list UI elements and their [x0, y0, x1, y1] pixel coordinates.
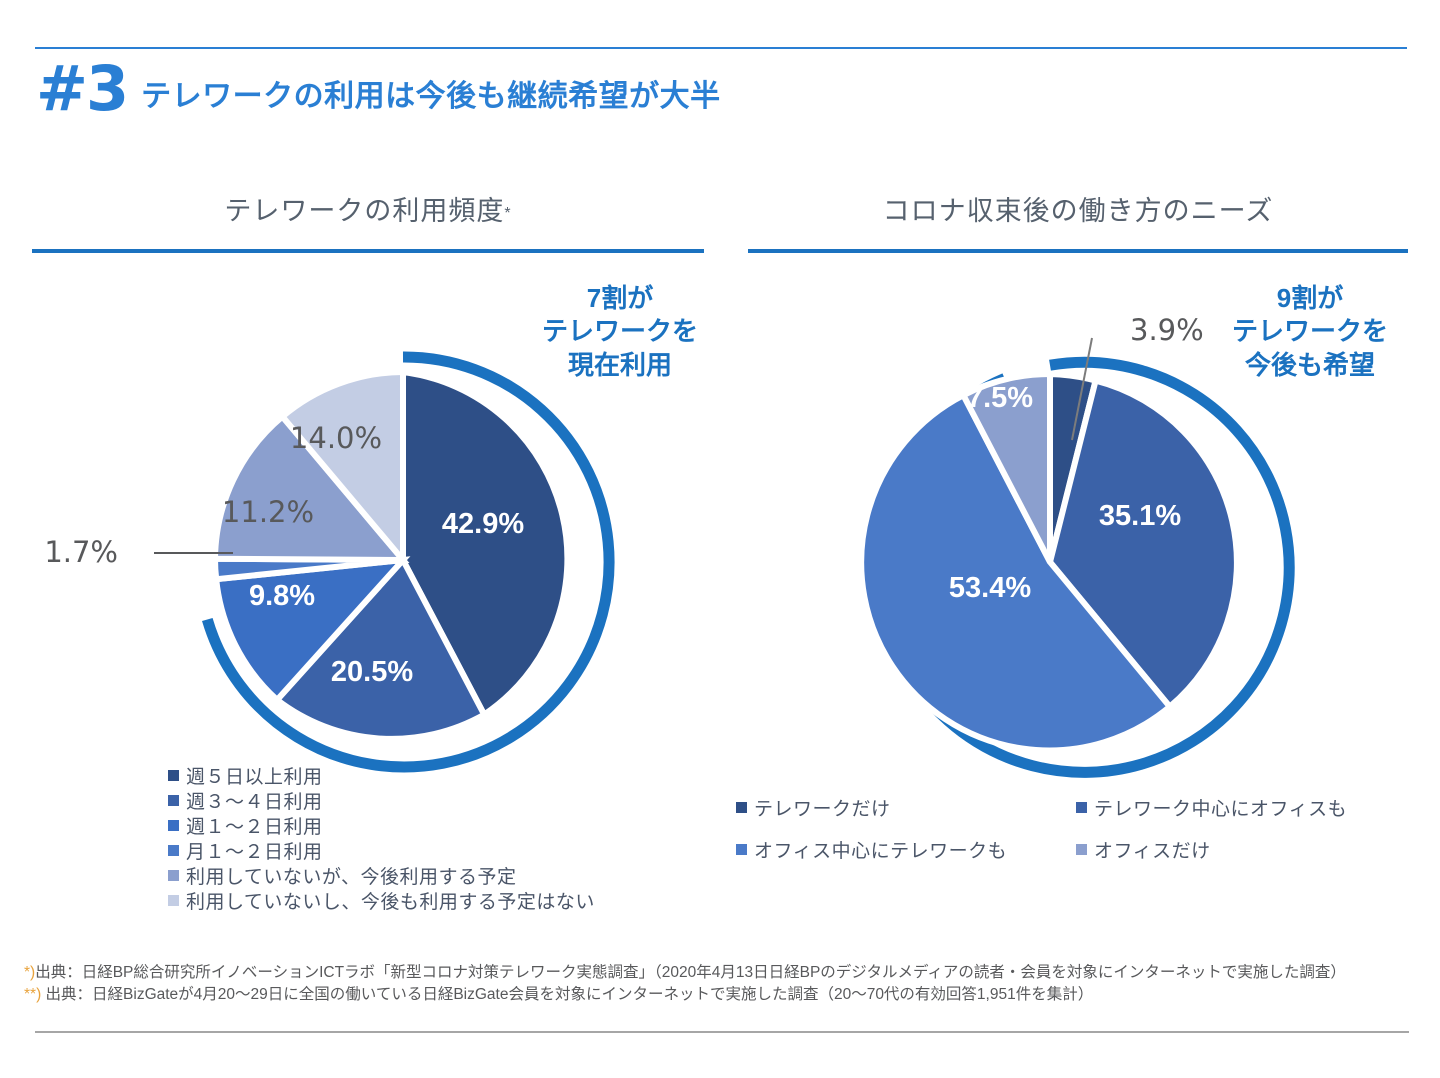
legend-label: テレワークだけ: [754, 794, 891, 821]
legend-item[interactable]: 週１〜２日利用: [168, 813, 688, 838]
right-chart-panel: コロナ収束後の働き方のニーズ: [748, 195, 1408, 253]
right-pie-slices: [861, 374, 1237, 750]
left-pie-svg: 42.9% 20.5% 9.8% 1.7% 11.2% 14.0%: [58, 300, 698, 760]
left-pie-label-6: 14.0%: [290, 421, 382, 455]
left-chart-title-text: テレワークの利用頻度: [224, 196, 504, 226]
right-pie-label-2: 35.1%: [1099, 500, 1181, 532]
left-chart-panel: テレワークの利用頻度*: [32, 195, 704, 253]
right-pie-label-4: 7.5%: [967, 382, 1033, 414]
legend-label: 週３〜４日利用: [186, 787, 323, 814]
right-chart-legend: テレワークだけ テレワーク中心にオフィスも オフィス中心にテレワークも オフィス…: [736, 786, 1416, 870]
legend-item[interactable]: 月１〜２日利用: [168, 838, 688, 863]
right-pie-svg: 3.9% 35.1% 53.4% 7.5%: [800, 300, 1400, 760]
left-pie-label-4: 1.7%: [44, 535, 118, 569]
legend-swatch: [1076, 802, 1087, 813]
legend-swatch: [736, 844, 747, 855]
legend-swatch: [168, 770, 179, 781]
bottom-divider: [35, 1031, 1409, 1033]
legend-label: テレワーク中心にオフィスも: [1094, 794, 1347, 821]
legend-label: 週１〜２日利用: [186, 812, 323, 839]
legend-swatch: [168, 820, 179, 831]
left-pie-label-2: 20.5%: [331, 656, 413, 688]
right-chart-title: コロナ収束後の働き方のニーズ: [748, 195, 1408, 239]
legend-swatch: [168, 845, 179, 856]
legend-label: オフィスだけ: [1094, 836, 1211, 863]
right-pie-chart: 3.9% 35.1% 53.4% 7.5%: [800, 300, 1400, 760]
footnote-row-1: *)出典：日経BP総合研究所イノベーションICTラボ「新型コロナ対策テレワーク実…: [24, 962, 1424, 984]
footnotes: *)出典：日経BP総合研究所イノベーションICTラボ「新型コロナ対策テレワーク実…: [24, 962, 1424, 1007]
left-pie-label-3: 9.8%: [249, 580, 315, 612]
left-chart-title-footnote-marker: *: [504, 205, 511, 222]
page-header: #3 テレワークの利用は今後も継続希望が大半: [36, 60, 721, 119]
footnote-row-2: **) 出典：日経BizGateが4月20〜29日に全国の働いている日経BizG…: [24, 984, 1424, 1006]
left-pie-label-1: 42.9%: [442, 508, 524, 540]
legend-item[interactable]: テレワークだけ: [736, 786, 1076, 828]
right-pie-label-3: 53.4%: [949, 572, 1031, 604]
right-panel-underline: [748, 249, 1408, 253]
legend-item[interactable]: 利用していないし、今後も利用する予定はない: [168, 888, 688, 913]
legend-swatch: [168, 870, 179, 881]
legend-item[interactable]: 利用していないが、今後利用する予定: [168, 863, 688, 888]
legend-item[interactable]: オフィスだけ: [1076, 828, 1416, 870]
left-panel-underline: [32, 249, 704, 253]
left-pie-label-5: 11.2%: [222, 495, 314, 529]
legend-label: 利用していないが、今後利用する予定: [186, 862, 517, 889]
top-divider: [35, 47, 1407, 49]
legend-item[interactable]: 週３〜４日利用: [168, 788, 688, 813]
left-pie-chart: 42.9% 20.5% 9.8% 1.7% 11.2% 14.0%: [58, 300, 698, 760]
left-chart-title: テレワークの利用頻度*: [32, 195, 704, 239]
legend-swatch: [736, 802, 747, 813]
legend-swatch: [168, 795, 179, 806]
page-title: テレワークの利用は今後も継続希望が大半: [141, 82, 721, 119]
legend-label: 利用していないし、今後も利用する予定はない: [186, 887, 595, 914]
footnote-marker-2: **): [24, 986, 41, 1003]
footnote-marker-1: *): [24, 964, 35, 981]
legend-label: 月１〜２日利用: [186, 837, 323, 864]
right-pie-label-1: 3.9%: [1130, 313, 1204, 347]
left-chart-legend: 週５日以上利用 週３〜４日利用 週１〜２日利用 月１〜２日利用 利用していないが…: [168, 763, 688, 913]
legend-swatch: [1076, 844, 1087, 855]
legend-swatch: [168, 895, 179, 906]
footnote-text-1: 出典：日経BP総合研究所イノベーションICTラボ「新型コロナ対策テレワーク実態調…: [35, 964, 1346, 981]
section-number: #3: [36, 60, 127, 119]
legend-item[interactable]: 週５日以上利用: [168, 763, 688, 788]
legend-item[interactable]: オフィス中心にテレワークも: [736, 828, 1076, 870]
legend-label: オフィス中心にテレワークも: [754, 836, 1007, 863]
legend-label: 週５日以上利用: [186, 762, 323, 789]
legend-item[interactable]: テレワーク中心にオフィスも: [1076, 786, 1416, 828]
footnote-text-2: 出典：日経BizGateが4月20〜29日に全国の働いている日経BizGate会…: [41, 986, 1093, 1003]
